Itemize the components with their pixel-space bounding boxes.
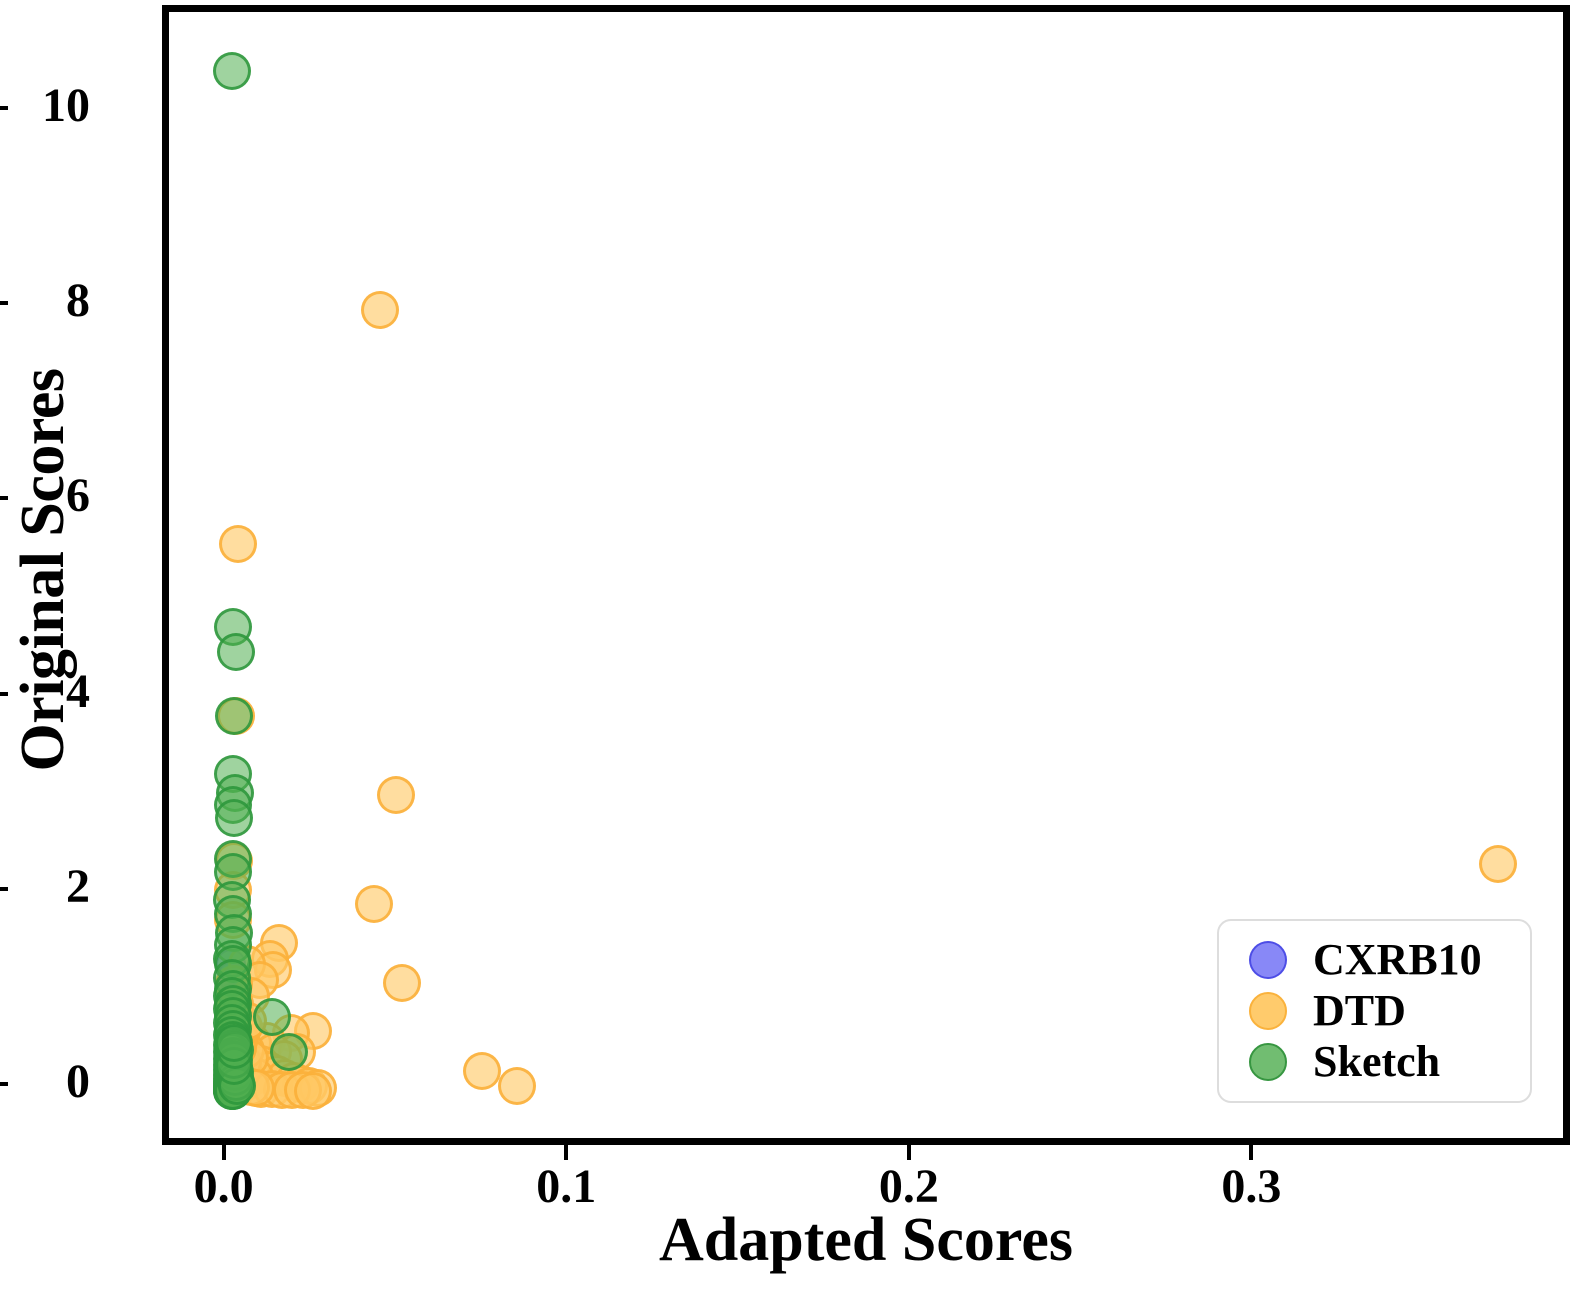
- y-axis-label: Original Scores: [0, 0, 86, 1140]
- scatter-point-dtd: [383, 964, 421, 1002]
- x-tick-mark: [222, 1145, 226, 1160]
- legend-swatch-icon: [1249, 941, 1287, 979]
- scatter-point-dtd: [1479, 845, 1517, 883]
- y-tick-mark: [0, 301, 8, 305]
- scatter-plot-figure: Original Scores 0246810 0.00.10.20.3 Ada…: [0, 0, 1578, 1300]
- y-tick-mark: [0, 106, 8, 110]
- x-axis-label: Adapted Scores: [162, 1205, 1570, 1276]
- x-tick-label: 0.3: [1161, 1163, 1341, 1211]
- legend-swatch-icon: [1249, 1043, 1287, 1081]
- scatter-point-sketch: [215, 1024, 253, 1062]
- scatter-point-dtd: [219, 525, 257, 563]
- legend-label: Sketch: [1313, 1040, 1440, 1084]
- scatter-point-dtd: [355, 885, 393, 923]
- scatter-point-sketch: [253, 998, 291, 1036]
- scatter-point-dtd: [498, 1067, 536, 1105]
- legend: CXRB10DTDSketch: [1217, 919, 1532, 1103]
- y-tick-label: 6: [10, 472, 90, 520]
- scatter-point-sketch: [215, 799, 253, 837]
- scatter-point-dtd: [361, 291, 399, 329]
- scatter-point-dtd: [377, 776, 415, 814]
- legend-item-sketch[interactable]: Sketch: [1237, 1036, 1514, 1087]
- y-tick-mark: [0, 692, 8, 696]
- legend-label: CXRB10: [1313, 938, 1482, 982]
- x-tick-mark: [564, 1145, 568, 1160]
- y-tick-label: 0: [10, 1058, 90, 1106]
- y-tick-label: 10: [10, 82, 90, 130]
- scatter-point-sketch: [213, 52, 251, 90]
- y-tick-mark: [0, 496, 8, 500]
- y-tick-label: 8: [10, 277, 90, 325]
- x-tick-label: 0.1: [476, 1163, 656, 1211]
- x-tick-mark: [1249, 1145, 1253, 1160]
- y-tick-mark: [0, 1082, 8, 1086]
- scatter-point-sketch: [217, 633, 255, 671]
- y-tick-mark: [0, 887, 8, 891]
- scatter-point-dtd: [294, 1072, 332, 1110]
- scatter-point-sketch: [270, 1033, 308, 1071]
- legend-item-cxrb10[interactable]: CXRB10: [1237, 935, 1514, 986]
- y-tick-label: 2: [10, 863, 90, 911]
- scatter-point-dtd: [463, 1052, 501, 1090]
- legend-label: DTD: [1313, 989, 1406, 1033]
- y-tick-label: 4: [10, 668, 90, 716]
- legend-swatch-icon: [1249, 992, 1287, 1030]
- legend-item-dtd[interactable]: DTD: [1237, 986, 1514, 1037]
- x-tick-label: 0.2: [819, 1163, 999, 1211]
- x-tick-mark: [907, 1145, 911, 1160]
- x-tick-label: 0.0: [134, 1163, 314, 1211]
